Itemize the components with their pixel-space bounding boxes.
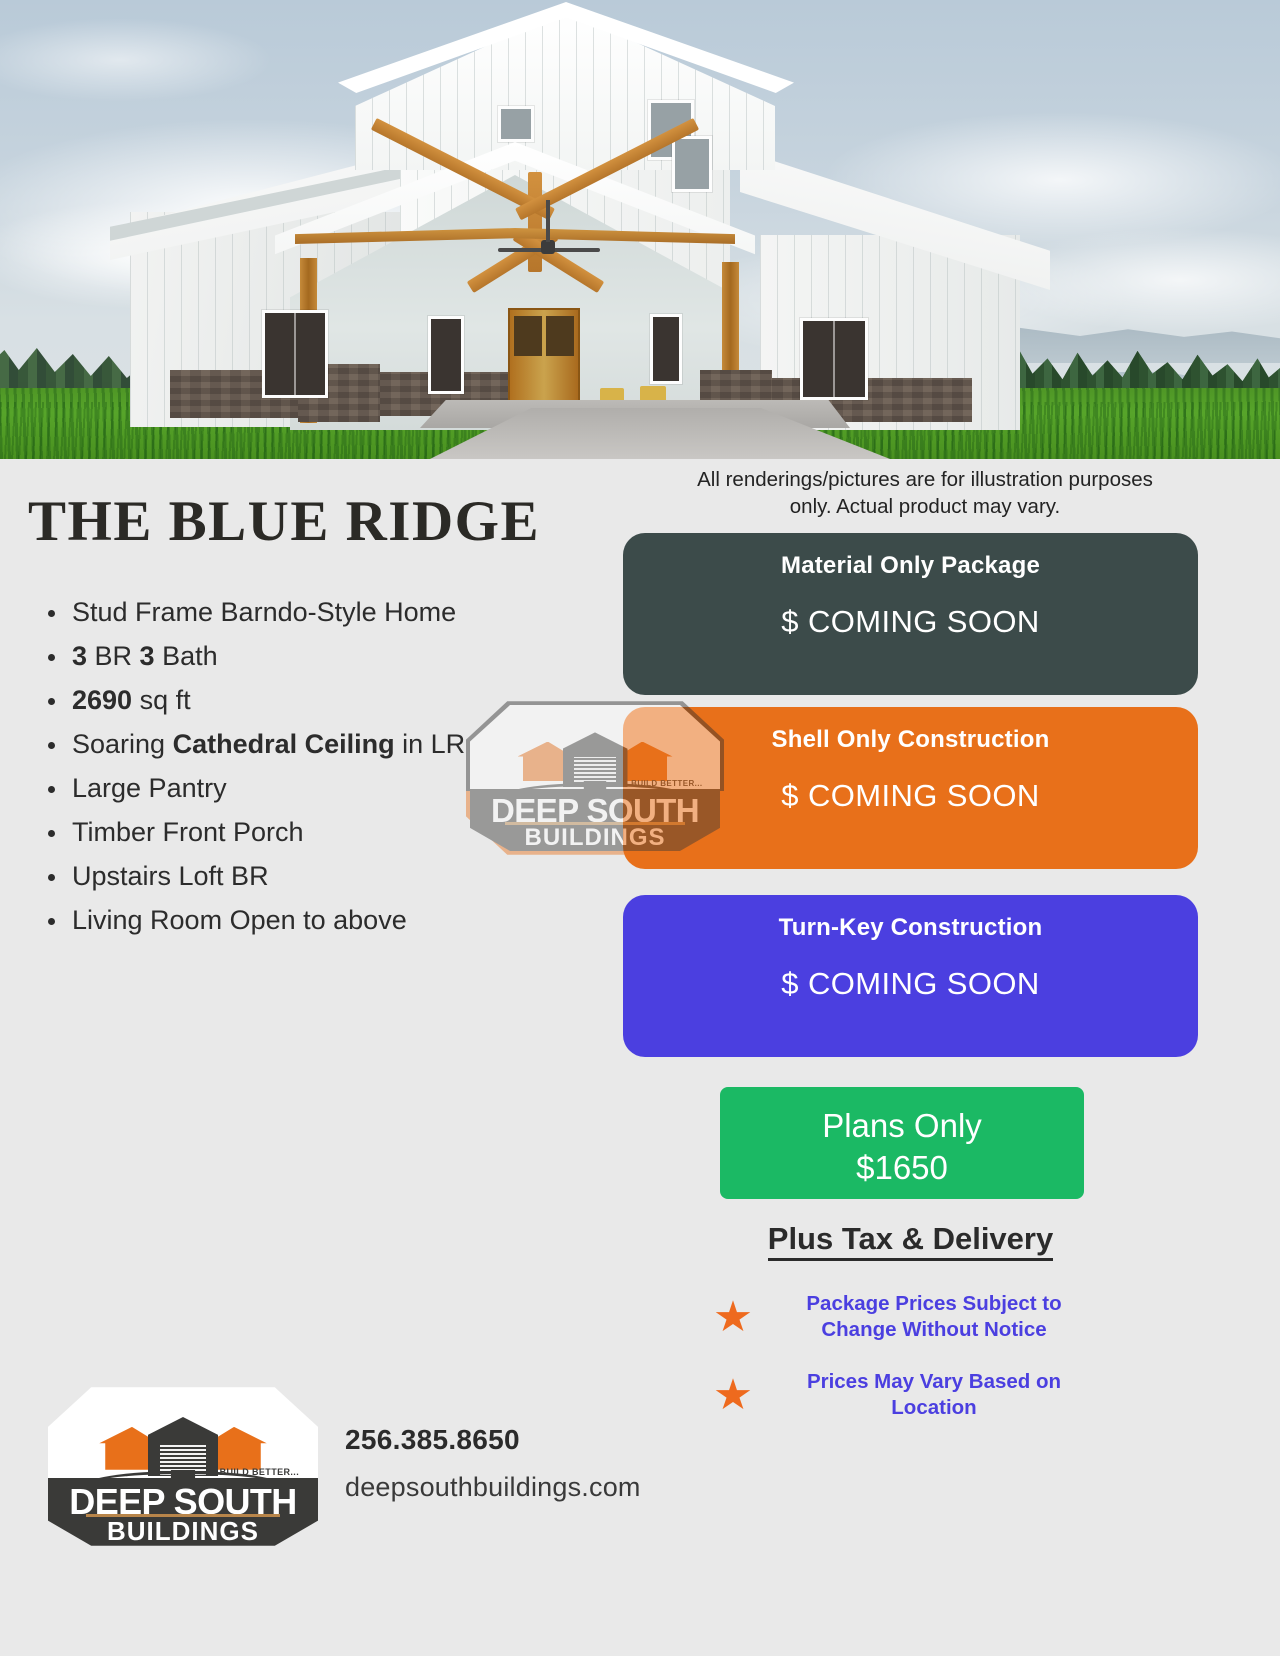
feature-item: Stud Frame Barndo-Style Home — [40, 599, 620, 626]
price-card-header: Material Only Package — [623, 533, 1198, 580]
feature-item: Large Pantry — [40, 775, 620, 802]
note-text: Package Prices Subject to Change Without… — [769, 1291, 1099, 1343]
window-loft-left — [498, 106, 534, 142]
phone-number[interactable]: 256.385.8650 — [345, 1424, 641, 1456]
info-panel: THE BLUE RIDGE Stud Frame Barndo-Style H… — [0, 459, 1280, 1656]
feature-text: 3 — [140, 641, 163, 671]
page-title: THE BLUE RIDGE — [28, 489, 540, 554]
price-card-plans-only[interactable]: Plans Only $1650 — [720, 1087, 1084, 1199]
feature-text: Living Room Open to above — [72, 905, 407, 935]
hero-image — [0, 0, 1280, 459]
window-porch-right — [650, 314, 682, 384]
feature-text: in LR — [402, 729, 465, 759]
disclaimer-note-price-change: Package Prices Subject to Change Without… — [715, 1291, 1099, 1343]
logo-tagline: BUILD BETTER... — [220, 1467, 300, 1477]
ceiling-fan-downrod — [546, 200, 550, 242]
plans-label: Plans Only — [720, 1105, 1084, 1147]
feature-text: Timber Front Porch — [72, 817, 304, 847]
feature-text: BR — [95, 641, 140, 671]
plus-tax-delivery-text: Plus Tax & Delivery — [768, 1221, 1053, 1261]
star-icon — [715, 1300, 751, 1334]
disclaimer-text: All renderings/pictures are for illustra… — [690, 466, 1160, 520]
website-url[interactable]: deepsouthbuildings.com — [345, 1472, 641, 1503]
price-card-price: $ COMING SOON — [623, 580, 1198, 640]
price-card-material-only[interactable]: Material Only Package $ COMING SOON — [623, 533, 1198, 695]
feature-item: Living Room Open to above — [40, 907, 620, 934]
price-card-shell-only[interactable]: Shell Only Construction $ COMING SOON — [623, 707, 1198, 869]
feature-text: Soaring — [72, 729, 173, 759]
plus-tax-delivery: Plus Tax & Delivery — [623, 1221, 1198, 1257]
feature-item: Timber Front Porch — [40, 819, 620, 846]
window-loft-far-right — [672, 136, 712, 192]
disclaimer-note-location: Prices May Vary Based on Location — [715, 1369, 1099, 1421]
window-right-wing — [800, 318, 868, 400]
feature-item: Soaring Cathedral Ceiling in LR — [40, 731, 620, 758]
price-card-price: $ COMING SOON — [623, 942, 1198, 1002]
feature-text: Stud Frame Barndo-Style Home — [72, 597, 456, 627]
window-left-wing — [262, 310, 328, 398]
star-icon — [715, 1378, 751, 1412]
feature-text: 3 — [72, 641, 95, 671]
feature-item: 2690 sq ft — [40, 687, 620, 714]
plans-price: $1650 — [720, 1147, 1084, 1189]
feature-text: Upstairs Loft BR — [72, 861, 269, 891]
feature-text: Large Pantry — [72, 773, 227, 803]
note-text: Prices May Vary Based on Location — [769, 1369, 1099, 1421]
feature-text: 2690 — [72, 685, 140, 715]
price-card-price: $ COMING SOON — [623, 754, 1198, 814]
price-card-header: Turn-Key Construction — [623, 895, 1198, 942]
ceiling-fan-motor — [541, 240, 555, 254]
feature-text: Bath — [162, 641, 218, 671]
feature-item: 3 BR 3 Bath — [40, 643, 620, 670]
company-logo[interactable]: BUILD BETTER... DEEP SOUTH BUILDINGS — [48, 1384, 318, 1549]
contact-block: 256.385.8650 deepsouthbuildings.com — [345, 1424, 641, 1503]
feature-text: sq ft — [140, 685, 191, 715]
feature-item: Upstairs Loft BR — [40, 863, 620, 890]
window-porch-left — [428, 316, 464, 394]
price-card-turn-key[interactable]: Turn-Key Construction $ COMING SOON — [623, 895, 1198, 1057]
feature-text: Cathedral Ceiling — [173, 729, 403, 759]
feature-list: Stud Frame Barndo-Style Home3 BR 3 Bath2… — [40, 599, 620, 951]
logo-name-line2: BUILDINGS — [48, 1516, 318, 1547]
price-card-header: Shell Only Construction — [623, 707, 1198, 754]
ceiling-fan-blade-right — [548, 248, 600, 252]
